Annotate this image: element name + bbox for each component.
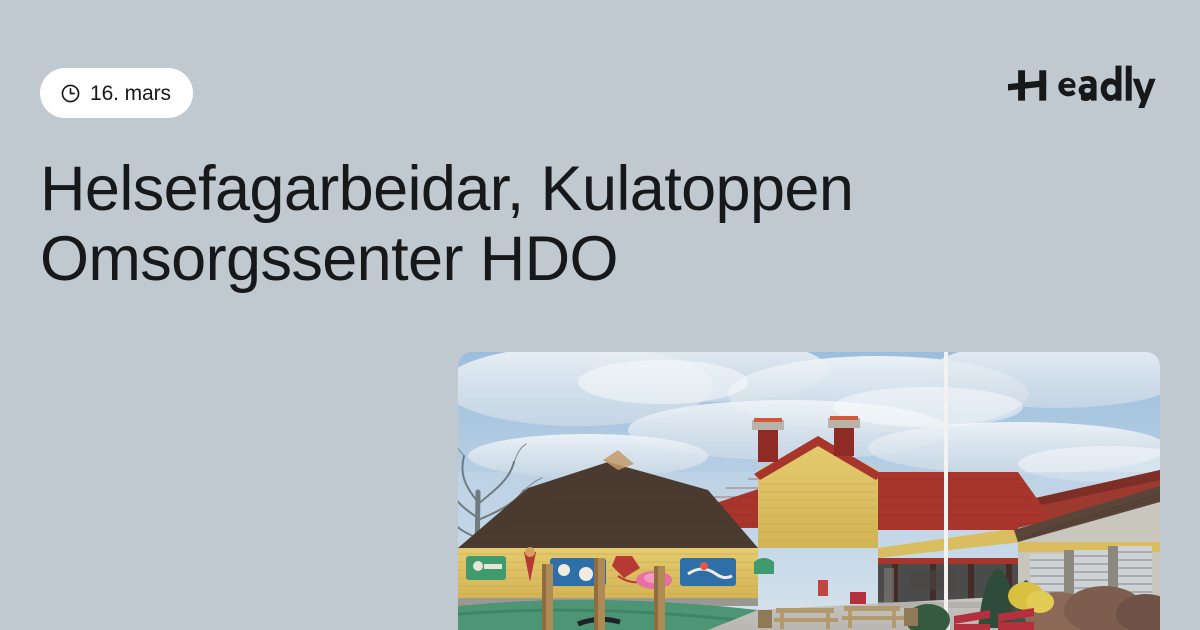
date-label: 16. mars (90, 83, 171, 104)
share-card: 16. mars Headly Helsefagarb (0, 0, 1200, 630)
date-badge: 16. mars (40, 68, 193, 118)
page-title: Helsefagarbeidar, Kulatoppen Omsorgssent… (40, 155, 1120, 295)
photo-illustration (458, 352, 1160, 630)
headly-wordmark-icon (1008, 62, 1160, 108)
clock-icon (60, 83, 81, 104)
headly-logo[interactable]: Headly (1008, 62, 1160, 108)
article-photo (458, 352, 1160, 630)
